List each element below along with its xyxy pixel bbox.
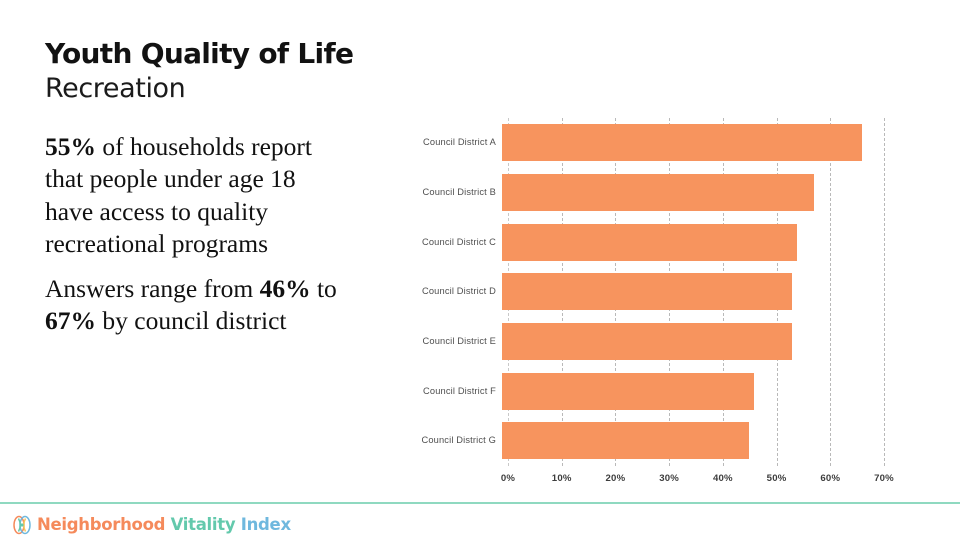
chart-bar[interactable] bbox=[502, 422, 749, 459]
category-label: Council District D bbox=[396, 287, 502, 296]
paragraph-range: Answers range from 46% to 67% by council… bbox=[45, 273, 345, 337]
bar-chart: Council District ACouncil District BCoun… bbox=[396, 118, 916, 493]
x-axis-tick-label: 70% bbox=[874, 473, 894, 484]
chart-bar[interactable] bbox=[502, 273, 792, 310]
bar-track bbox=[502, 317, 916, 367]
bar-track bbox=[502, 267, 916, 317]
brand-wordmark: Neighborhood Vitality Index bbox=[37, 517, 291, 534]
chart-bar[interactable] bbox=[502, 124, 862, 161]
category-label: Council District E bbox=[396, 337, 502, 346]
bar-track bbox=[502, 217, 916, 267]
left-text-column: Youth Quality of Life Recreation 55% of … bbox=[45, 38, 385, 337]
page-title: Youth Quality of Life bbox=[45, 38, 385, 70]
category-label: Council District B bbox=[396, 188, 502, 197]
x-axis-tick-label: 20% bbox=[606, 473, 626, 484]
chart-row: Council District C bbox=[396, 217, 916, 267]
chart-row: Council District E bbox=[396, 317, 916, 367]
x-axis-tick-label: 0% bbox=[501, 473, 515, 484]
range-min-value: 46% bbox=[260, 274, 311, 303]
footer-divider bbox=[0, 502, 960, 504]
bar-track bbox=[502, 416, 916, 466]
chart-row: Council District D bbox=[396, 267, 916, 317]
chart-bar[interactable] bbox=[502, 323, 792, 360]
stat-headline: 55% bbox=[45, 132, 96, 161]
x-axis-tick-label: 10% bbox=[552, 473, 572, 484]
nvi-logo-icon bbox=[12, 515, 32, 535]
range-max-value: 67% bbox=[45, 306, 96, 335]
footer-branding: Neighborhood Vitality Index bbox=[12, 510, 291, 540]
chart-x-axis: 0%10%20%30%40%50%60%70% bbox=[508, 468, 884, 492]
chart-bar[interactable] bbox=[502, 224, 797, 261]
category-label: Council District C bbox=[396, 238, 502, 247]
chart-bar[interactable] bbox=[502, 174, 814, 211]
range-lead-text: Answers range from bbox=[45, 274, 260, 303]
bar-track bbox=[502, 118, 916, 168]
page-subtitle: Recreation bbox=[45, 73, 385, 105]
range-tail-text: by council district bbox=[96, 306, 287, 335]
slide-root: Youth Quality of Life Recreation 55% of … bbox=[0, 0, 960, 540]
brand-word-vitality: Vitality bbox=[171, 515, 236, 534]
bar-track bbox=[502, 366, 916, 416]
category-label: Council District G bbox=[396, 436, 502, 445]
chart-row: Council District G bbox=[396, 416, 916, 466]
category-label: Council District F bbox=[396, 387, 502, 396]
paragraph-statistic: 55% of households report that people und… bbox=[45, 131, 345, 260]
chart-row: Council District A bbox=[396, 118, 916, 168]
body-copy: 55% of households report that people und… bbox=[45, 131, 345, 337]
chart-bar[interactable] bbox=[502, 373, 754, 410]
category-label: Council District A bbox=[396, 138, 502, 147]
range-mid-text: to bbox=[311, 274, 337, 303]
brand-word-index: Index bbox=[241, 515, 291, 534]
chart-row: Council District B bbox=[396, 168, 916, 218]
bar-track bbox=[502, 168, 916, 218]
brand-word-neighborhood: Neighborhood bbox=[37, 515, 165, 534]
x-axis-tick-label: 60% bbox=[820, 473, 840, 484]
chart-plot-area: Council District ACouncil District BCoun… bbox=[396, 118, 916, 466]
x-axis-tick-label: 40% bbox=[713, 473, 733, 484]
chart-row: Council District F bbox=[396, 366, 916, 416]
x-axis-tick-label: 30% bbox=[659, 473, 679, 484]
x-axis-tick-label: 50% bbox=[767, 473, 787, 484]
